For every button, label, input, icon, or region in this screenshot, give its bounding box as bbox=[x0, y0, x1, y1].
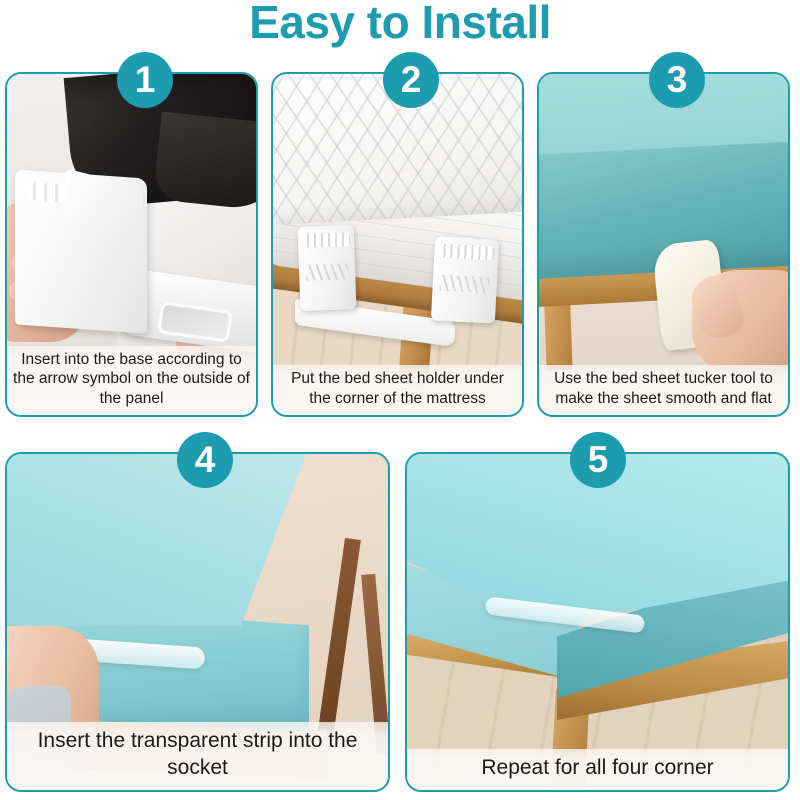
page-title: Easy to Install bbox=[0, 0, 800, 48]
step-badge-1: 1 bbox=[117, 52, 173, 108]
step-card-3: Use the bed sheet tucker tool to make th… bbox=[537, 72, 790, 417]
step-card-1: Insert into the base according to the ar… bbox=[5, 72, 258, 417]
step-3-caption: Use the bed sheet tucker tool to make th… bbox=[539, 365, 788, 415]
step-card-5: Repeat for all four corner bbox=[405, 452, 790, 792]
step-badge-4: 4 bbox=[177, 432, 233, 488]
step-badge-5: 5 bbox=[570, 432, 626, 488]
step-5-caption: Repeat for all four corner bbox=[407, 749, 788, 790]
step-2-caption: Put the bed sheet holder under the corne… bbox=[273, 365, 522, 415]
step-card-4: Insert the transparent strip into the so… bbox=[5, 452, 390, 792]
step-1-caption: Insert into the base according to the ar… bbox=[7, 346, 256, 416]
step-badge-2: 2 bbox=[383, 52, 439, 108]
step-3-image bbox=[539, 74, 788, 415]
step-2-image bbox=[273, 74, 522, 415]
step-badge-3: 3 bbox=[649, 52, 705, 108]
step-5-image bbox=[407, 454, 788, 790]
step-card-2: Put the bed sheet holder under the corne… bbox=[271, 72, 524, 417]
infographic-page: Easy to Install Insert into the base acc… bbox=[0, 0, 800, 800]
step-4-caption: Insert the transparent strip into the so… bbox=[7, 722, 388, 790]
